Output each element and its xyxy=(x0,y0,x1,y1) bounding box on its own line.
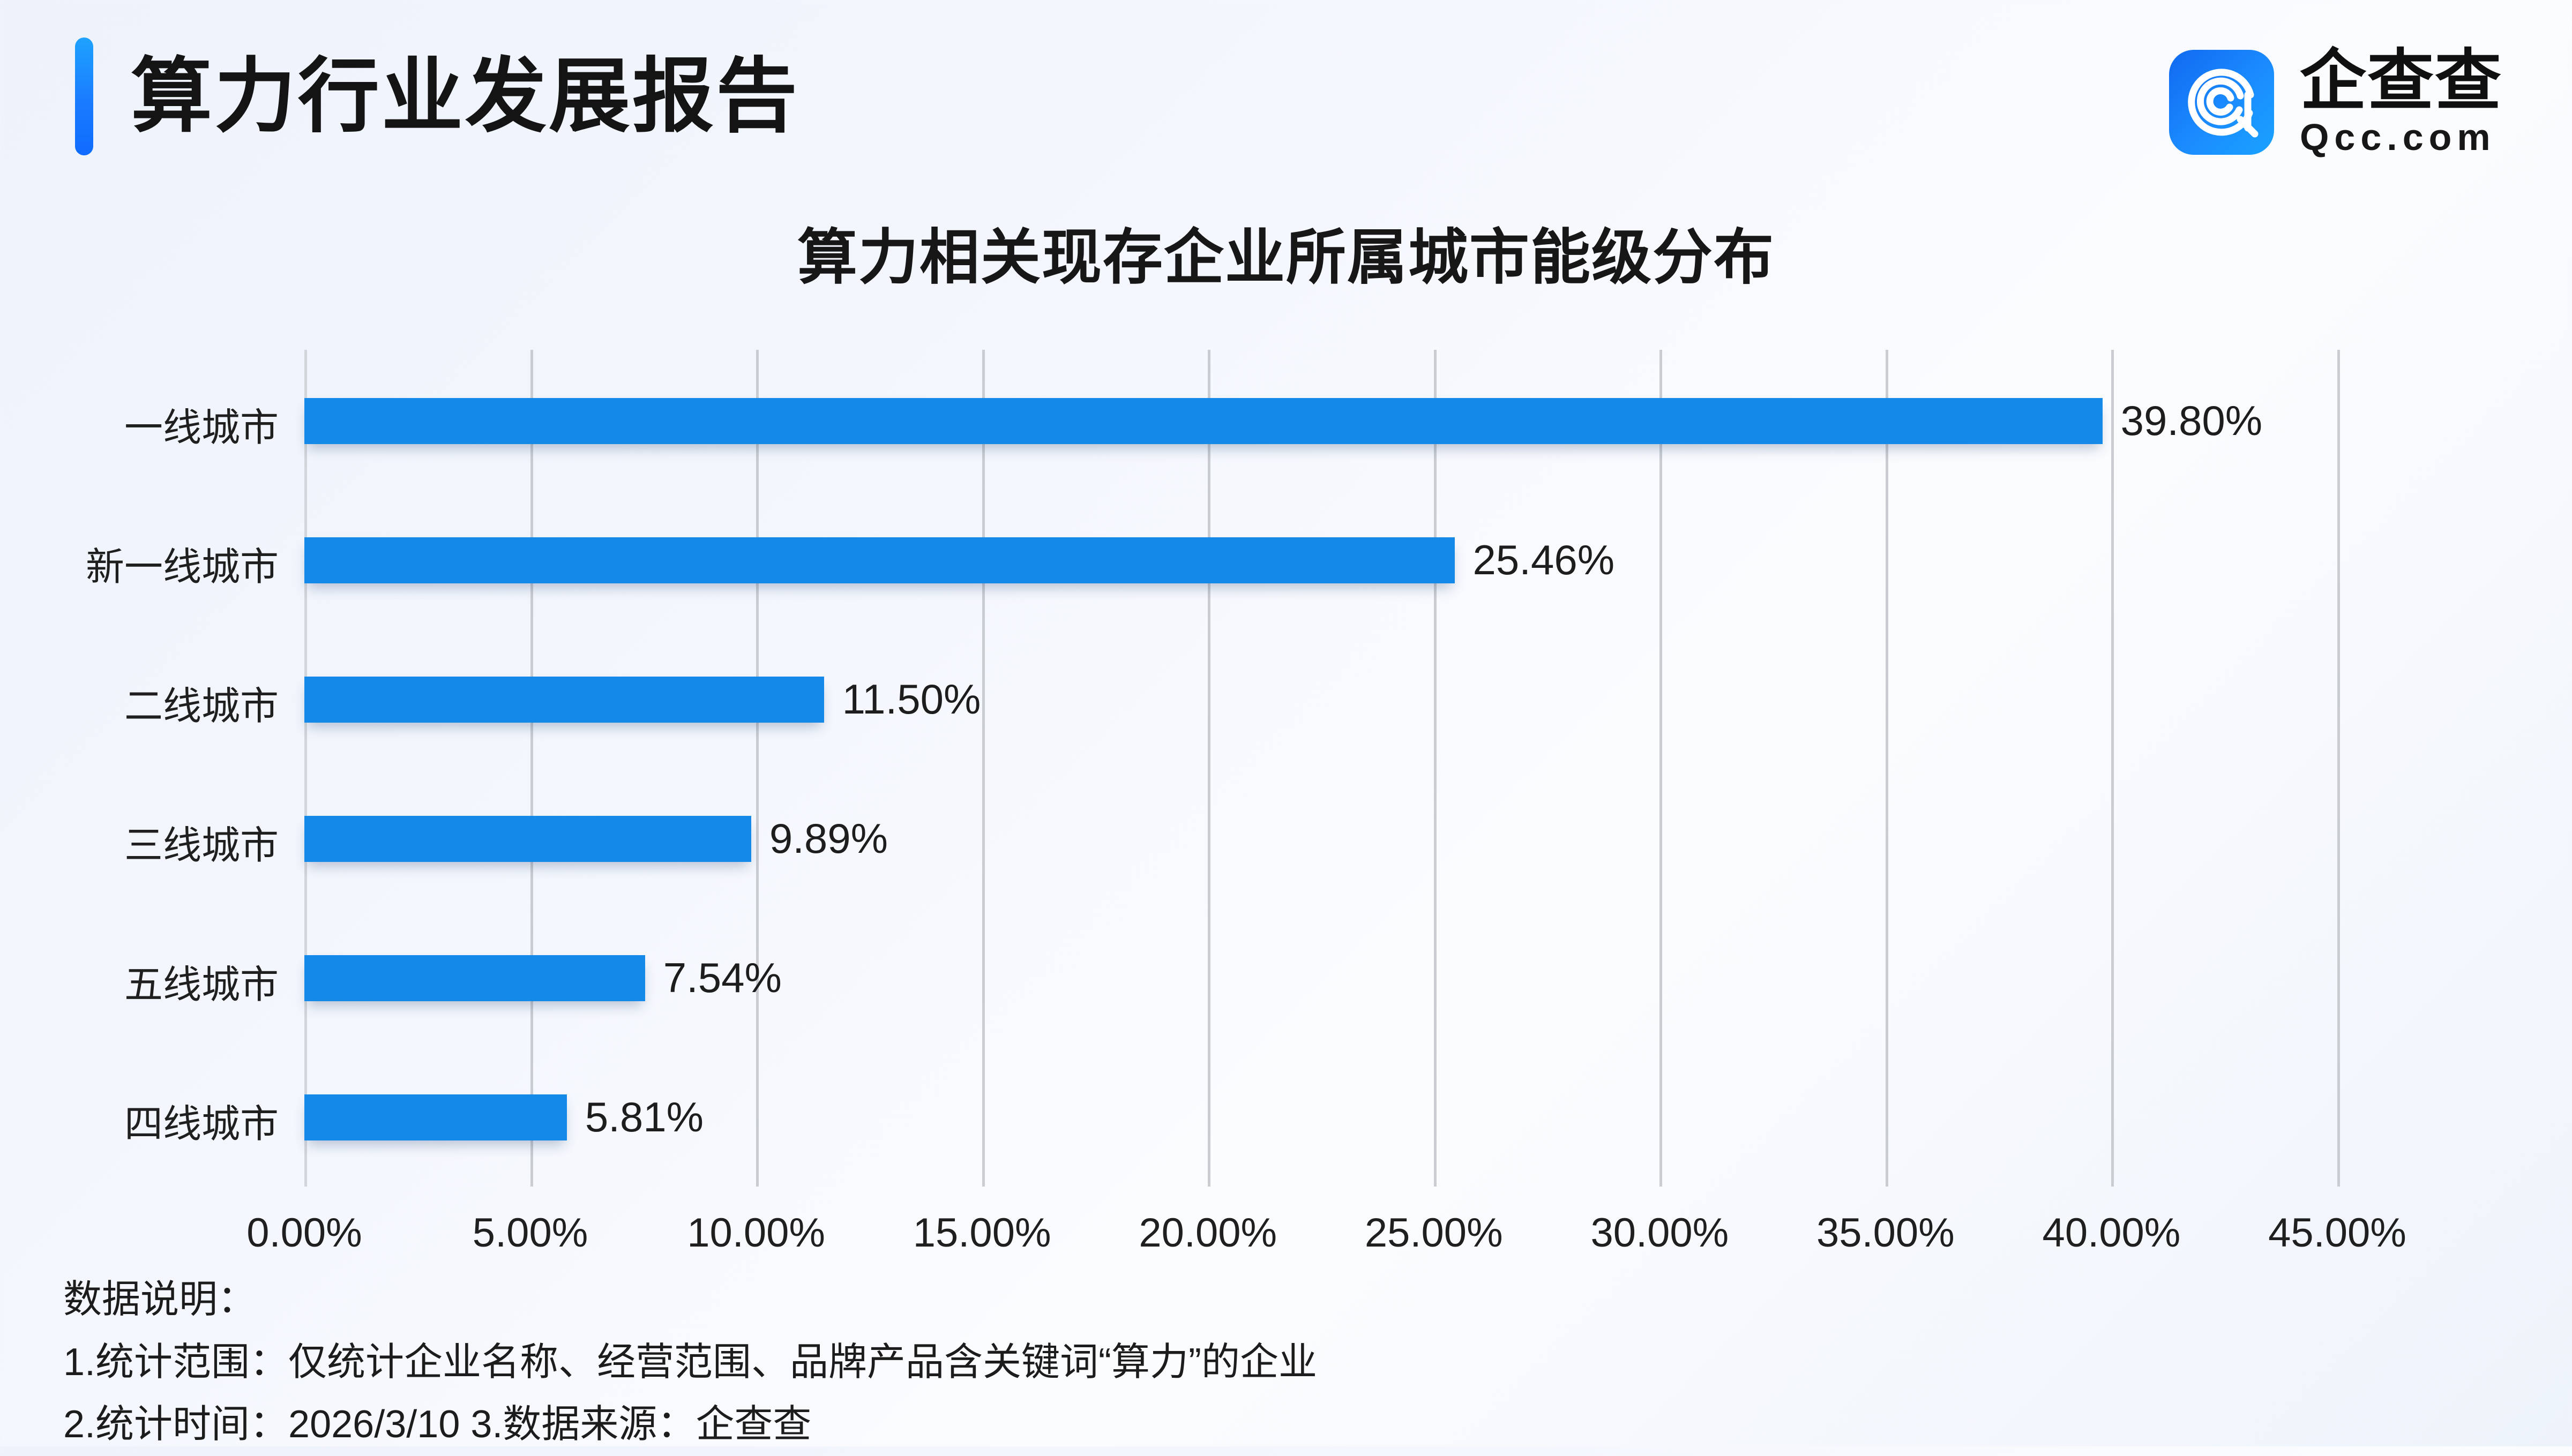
y-axis-tick-label: 三线城市 xyxy=(0,814,279,870)
bar-row: 39.80% xyxy=(304,351,2448,490)
x-axis-tick-label: 25.00% xyxy=(1365,1210,1503,1256)
bar-value-label: 25.46% xyxy=(1473,535,1615,584)
bar[interactable] xyxy=(304,537,1455,583)
data-note-line: 1.统计范围：仅统计企业名称、经营范围、品牌产品含关键词“算力”的企业 xyxy=(63,1331,2207,1394)
bar-value-label: 7.54% xyxy=(663,953,782,1002)
x-axis-tick-label: 40.00% xyxy=(2043,1210,2181,1256)
bar-value-label: 9.89% xyxy=(769,814,888,863)
x-axis-labels: 0.00%5.00%10.00%15.00%20.00%25.00%30.00%… xyxy=(0,1210,2572,1274)
bar[interactable] xyxy=(304,677,824,723)
y-axis-tick-label: 五线城市 xyxy=(0,953,279,1009)
bar[interactable] xyxy=(304,816,751,862)
x-axis-tick-label: 10.00% xyxy=(687,1210,825,1256)
bar-value-label: 5.81% xyxy=(585,1092,704,1142)
data-note-line: 2.统计时间：2026/3/10 3.数据来源：企查查 xyxy=(63,1393,2207,1456)
bar-series: 39.80%25.46%11.50%9.89%7.54%5.81% xyxy=(304,350,2448,1187)
x-axis-tick-label: 30.00% xyxy=(1590,1210,1729,1256)
x-axis-tick-label: 45.00% xyxy=(2268,1210,2406,1256)
bar-chart: 一线城市新一线城市二线城市三线城市五线城市四线城市 39.80%25.46%11… xyxy=(0,0,2572,1446)
y-axis-tick-label: 新一线城市 xyxy=(0,535,279,591)
data-note-line: 数据说明： xyxy=(63,1269,2207,1331)
y-axis-labels: 一线城市新一线城市二线城市三线城市五线城市四线城市 xyxy=(0,350,279,1187)
x-axis-tick-label: 35.00% xyxy=(1816,1210,1955,1256)
bar-row: 9.89% xyxy=(304,769,2448,908)
y-axis-tick-label: 一线城市 xyxy=(0,396,279,452)
x-axis-tick-label: 5.00% xyxy=(473,1210,588,1256)
bar-row: 25.46% xyxy=(304,490,2448,629)
bar-row: 11.50% xyxy=(304,629,2448,769)
x-axis-tick-label: 0.00% xyxy=(246,1210,362,1256)
bar-row: 5.81% xyxy=(304,1047,2448,1187)
bar-value-label: 39.80% xyxy=(2121,396,2263,445)
bar[interactable] xyxy=(304,1094,567,1140)
bar-row: 7.54% xyxy=(304,908,2448,1047)
bar[interactable] xyxy=(304,398,2103,444)
bar[interactable] xyxy=(304,955,645,1001)
y-axis-tick-label: 四线城市 xyxy=(0,1092,279,1149)
data-notes: 数据说明：1.统计范围：仅统计企业名称、经营范围、品牌产品含关键词“算力”的企业… xyxy=(63,1269,2207,1456)
x-axis-tick-label: 15.00% xyxy=(913,1210,1051,1256)
x-axis-tick-label: 20.00% xyxy=(1139,1210,1277,1256)
bar-value-label: 11.50% xyxy=(842,674,981,724)
y-axis-tick-label: 二线城市 xyxy=(0,674,279,731)
